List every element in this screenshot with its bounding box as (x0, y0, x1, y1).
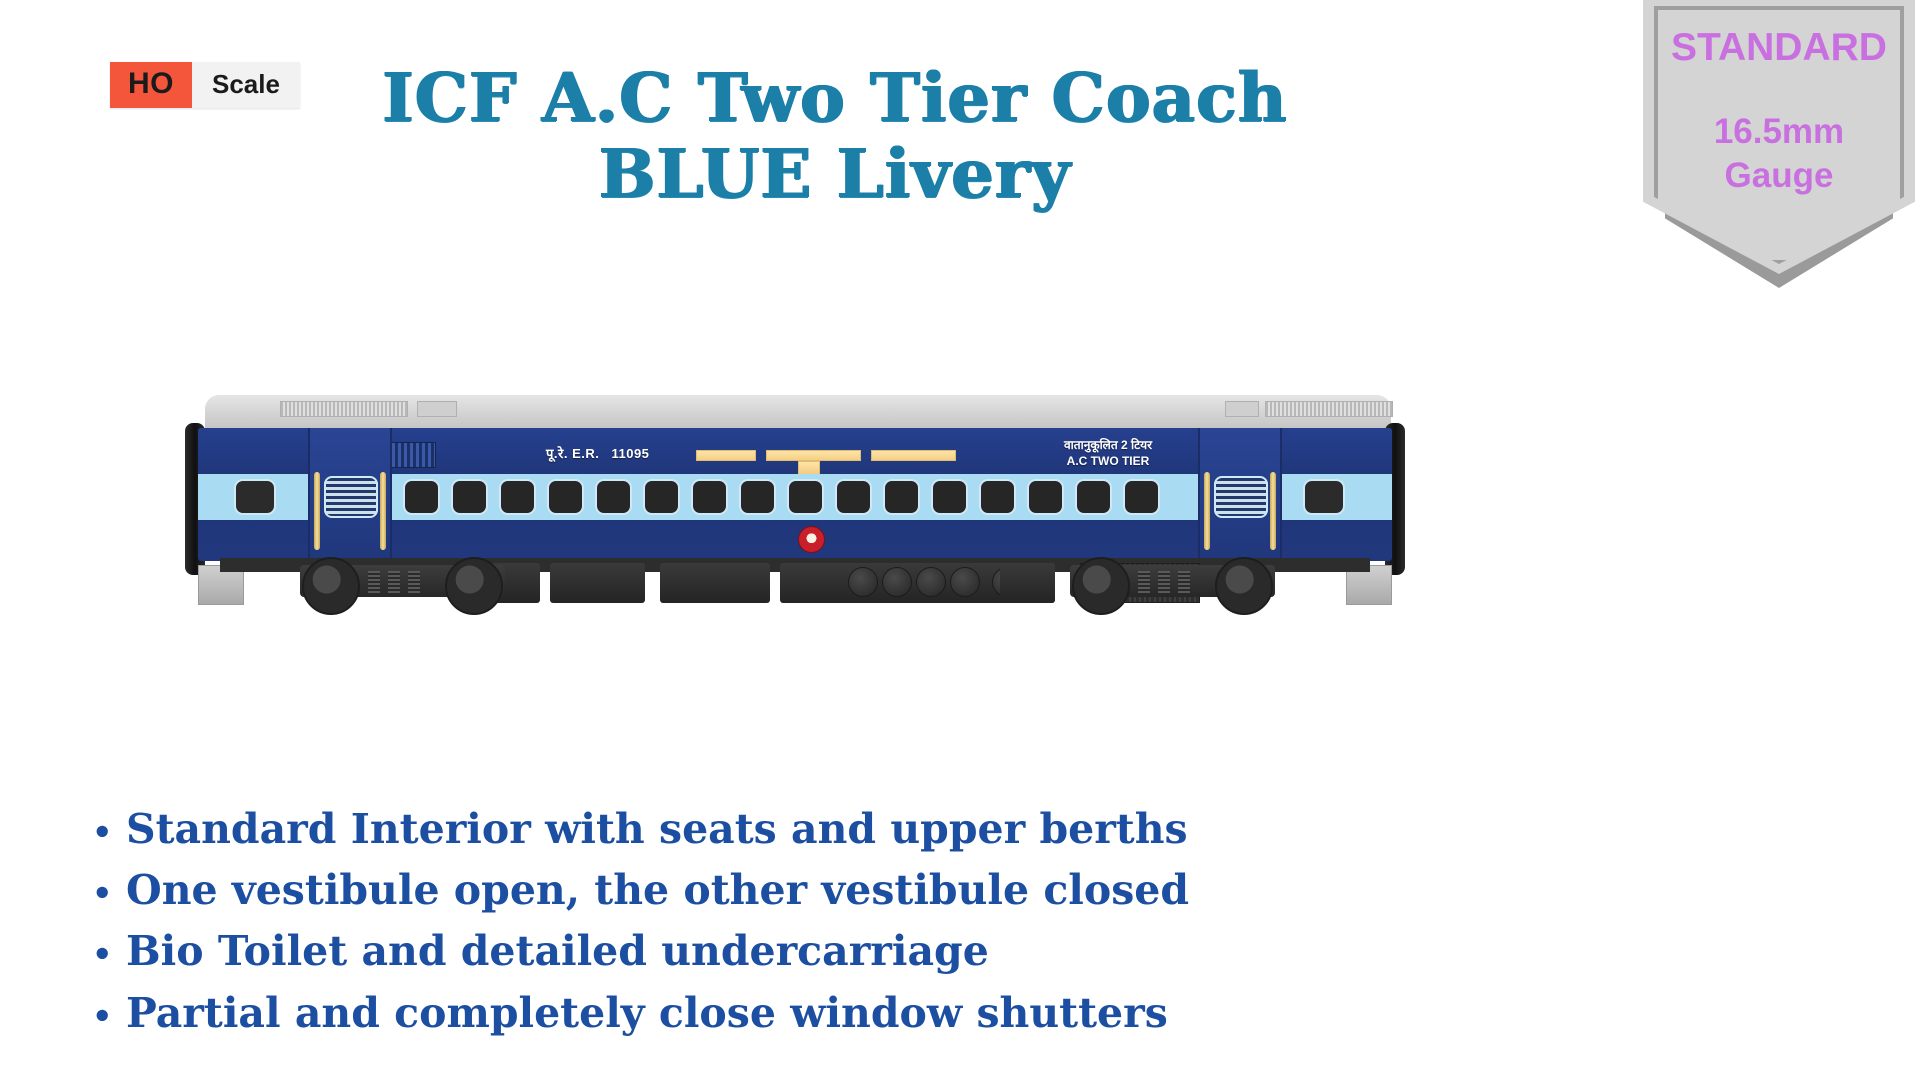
class-label-english: A.C TWO TIER (1018, 453, 1198, 469)
page-title-line-2: BLUE Livery (330, 136, 1340, 212)
railway-emblem (798, 526, 825, 553)
under-box-3 (660, 563, 770, 603)
wheel (302, 557, 360, 615)
window (1027, 479, 1064, 515)
window (979, 479, 1016, 515)
coach-marking-right: वातानुकूलित 2 टियर A.C TWO TIER (1018, 437, 1198, 469)
coach-number: 11095 (611, 446, 649, 461)
coach-marking-left: पू.रे. E.R. 11095 (546, 444, 649, 462)
window (451, 479, 488, 515)
handrail-right (1270, 472, 1276, 550)
scale-badge-code: HO (110, 62, 192, 108)
window (787, 479, 824, 515)
wheel (445, 557, 503, 615)
body-vent-left (388, 442, 436, 468)
window-end-right (1303, 479, 1345, 515)
window (643, 479, 680, 515)
under-fan-2 (882, 567, 912, 597)
bogie-spring-3 (1178, 571, 1190, 593)
roof-vent-left (280, 401, 408, 417)
scale-badge-label: Scale (192, 62, 300, 108)
bogie-left (300, 555, 505, 617)
list-item: • Standard Interior with seats and upper… (92, 800, 1392, 858)
feature-text: One vestibule open, the other vestibule … (126, 861, 1189, 919)
gauge-shield-badge: STANDARD 16.5mm Gauge (1643, 0, 1915, 288)
window (547, 479, 584, 515)
gold-bar-1 (696, 450, 756, 461)
gold-bar-2 (766, 450, 861, 461)
under-box-2 (550, 563, 645, 603)
wheel (1215, 557, 1273, 615)
bogie-spring-1 (1138, 571, 1150, 593)
feature-text: Partial and completely close window shut… (126, 984, 1168, 1042)
roof-hatch-left (417, 401, 457, 417)
handrail-right (380, 472, 386, 550)
under-fan-3 (916, 567, 946, 597)
window (1123, 479, 1160, 515)
bogie-spring-3 (408, 571, 420, 593)
shield-text: STANDARD 16.5mm Gauge (1643, 0, 1915, 274)
shield-gauge-line-2: Gauge (1725, 154, 1834, 198)
under-box-5 (1000, 563, 1055, 603)
bogie-spring-2 (1158, 571, 1170, 593)
under-compressor-1 (950, 567, 980, 597)
window (691, 479, 728, 515)
list-item: • One vestibule open, the other vestibul… (92, 861, 1392, 919)
window (595, 479, 632, 515)
window (883, 479, 920, 515)
shield-heading: STANDARD (1671, 26, 1887, 70)
wheel (1072, 557, 1130, 615)
bullet-icon: • (92, 816, 126, 848)
window (931, 479, 968, 515)
door-left (308, 428, 392, 561)
gold-bar-3 (871, 450, 956, 461)
feature-text: Standard Interior with seats and upper b… (126, 800, 1188, 858)
bullet-icon: • (92, 877, 126, 909)
window-end-left (234, 479, 276, 515)
door-louver-window (1214, 476, 1268, 518)
bogie-spring-2 (388, 571, 400, 593)
bullet-icon: • (92, 1000, 126, 1032)
handrail-left (1204, 472, 1210, 550)
window (739, 479, 776, 515)
bogie-spring-1 (368, 571, 380, 593)
class-label-hindi: वातानुकूलित 2 टियर (1018, 437, 1198, 453)
door-louver-window (324, 476, 378, 518)
feature-text: Bio Toilet and detailed undercarriage (126, 922, 989, 980)
window (403, 479, 440, 515)
feature-list: • Standard Interior with seats and upper… (92, 800, 1392, 1045)
coach-illustration: पू.रे. E.R. 11095 वातानुकूलित 2 टियर A.C… (180, 395, 1410, 655)
coach-body: पू.रे. E.R. 11095 वातानुकूलित 2 टियर A.C… (198, 428, 1392, 561)
bullet-icon: • (92, 938, 126, 970)
window (835, 479, 872, 515)
scale-badge: HO Scale (110, 62, 300, 108)
railway-code-hindi: पू.रे. (546, 446, 568, 461)
under-fan-1 (848, 567, 878, 597)
shield-gauge-line-1: 16.5mm (1714, 110, 1844, 154)
window (1075, 479, 1112, 515)
list-item: • Bio Toilet and detailed undercarriage (92, 922, 1392, 980)
window (499, 479, 536, 515)
bogie-right (1070, 555, 1275, 617)
page-title: ICF A.C Two Tier Coach BLUE Livery (330, 60, 1340, 211)
roof-vent-right (1265, 401, 1393, 417)
handrail-left (314, 472, 320, 550)
list-item: • Partial and completely close window sh… (92, 984, 1392, 1042)
page-title-line-1: ICF A.C Two Tier Coach (382, 58, 1287, 137)
roof-hatch-right (1225, 401, 1259, 417)
railway-code: E.R. (572, 446, 599, 461)
door-right (1198, 428, 1282, 561)
